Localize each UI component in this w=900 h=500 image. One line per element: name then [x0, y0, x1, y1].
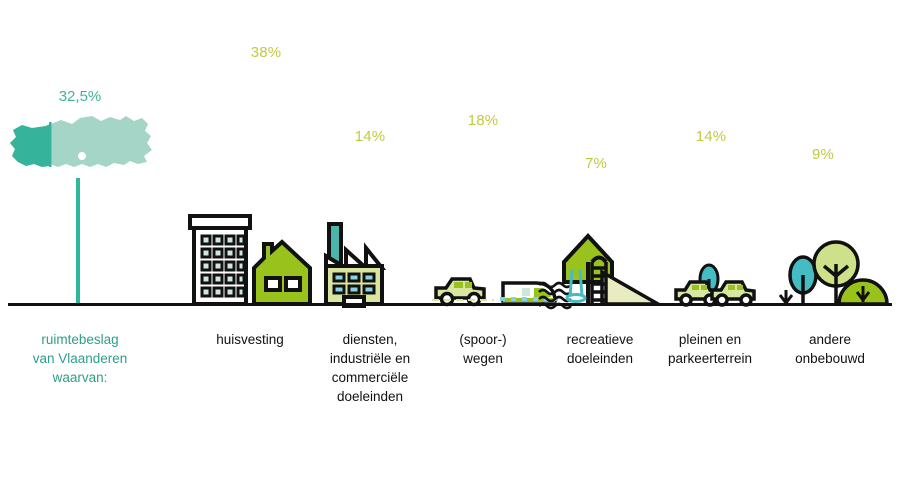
- label-line: wegen: [428, 349, 538, 368]
- category-label-wegen: (spoor-) wegen: [428, 330, 538, 368]
- label-line: diensten,: [305, 330, 435, 349]
- map-caption-line-2: van Vlaanderen: [0, 349, 160, 368]
- label-line: commerciële: [305, 368, 435, 387]
- ground-baseline: [8, 303, 892, 306]
- bar-value-huisvesting: 38%: [216, 44, 316, 61]
- map-caption-line-1: ruimtebeslag: [0, 330, 160, 349]
- label-line: industriële en: [305, 349, 435, 368]
- infographic-canvas: 32,5% ruimtebeslag van Vlaanderen waarva…: [0, 0, 900, 500]
- map-caption-line-3: waarvan:: [0, 368, 160, 387]
- road-dashes: [432, 299, 494, 301]
- bar-value-recreatieve: 7%: [546, 155, 646, 172]
- label-line: pleinen en: [650, 330, 770, 349]
- category-label-huisvesting: huisvesting: [185, 330, 315, 349]
- category-label-recreatieve: recreatieve doeleinden: [540, 330, 660, 368]
- bush-icon: [837, 278, 889, 500]
- label-line: parkeerterrein: [650, 349, 770, 368]
- bar-huisvesting: [236, 68, 282, 208]
- bar-diensten: [345, 152, 391, 208]
- map-connector-stem: [76, 178, 80, 306]
- label-line: onbebouwd: [770, 349, 890, 368]
- bar-pleinen: [688, 152, 734, 208]
- apartment-building-icon: [188, 214, 258, 500]
- label-line: huisvesting: [185, 330, 315, 349]
- label-line: doeleinden: [540, 349, 660, 368]
- label-line: (spoor-): [428, 330, 538, 349]
- label-line: recreatieve: [540, 330, 660, 349]
- bar-value-wegen: 18%: [433, 112, 533, 129]
- car-icon: [430, 274, 490, 500]
- bar-onbebouwd: [800, 170, 846, 208]
- bar-value-pleinen: 14%: [661, 128, 761, 145]
- map-value-label: 32,5%: [0, 88, 160, 105]
- bar-value-onbebouwd: 9%: [773, 146, 873, 163]
- parked-car-icon: [708, 278, 758, 500]
- label-line: doeleinden: [305, 387, 435, 406]
- category-label-diensten: diensten, industriële en commerciële doe…: [305, 330, 435, 406]
- category-label-pleinen: pleinen en parkeerterrein: [650, 330, 770, 368]
- bar-value-diensten: 14%: [320, 128, 420, 145]
- category-label-onbebouwd: andere onbebouwd: [770, 330, 890, 368]
- map-caption: ruimtebeslag van Vlaanderen waarvan:: [0, 330, 160, 387]
- bar-wegen: [460, 136, 506, 208]
- flanders-map-icon: [6, 112, 156, 182]
- bar-recreatieve: [573, 180, 619, 208]
- label-line: andere: [770, 330, 890, 349]
